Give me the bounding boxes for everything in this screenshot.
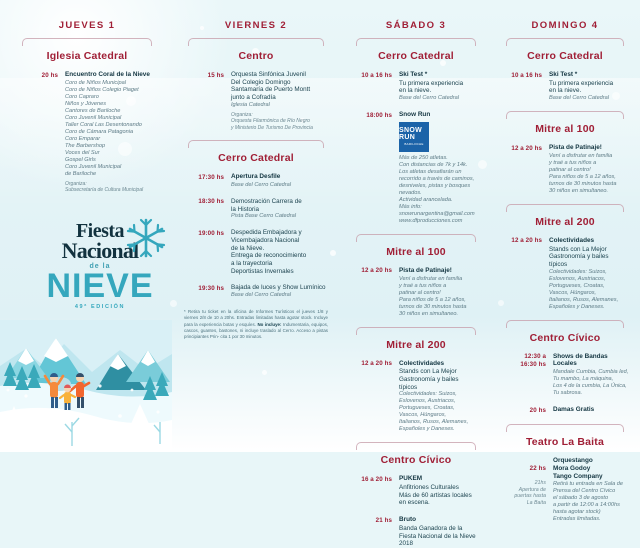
item-description: Bajada de luces y Show Lumínico <box>231 284 332 292</box>
item-title: Colectividades <box>399 360 484 368</box>
item-time: 17:30 hs <box>180 173 231 189</box>
item-time: 19:30 hs <box>180 284 231 299</box>
item-time: 21 hs <box>348 516 399 548</box>
item-description: Stands con La Mejor Gastronomía y bailes… <box>399 368 484 391</box>
day-title-sabado: SÁBADO 3 <box>348 20 484 31</box>
venue-cerro-catedral: Cerro Catedral <box>348 50 484 62</box>
day-column-viernes: VIERNES 2 Centro 15 hs Orquesta Sinfónic… <box>170 0 340 452</box>
venue-centro-civico: Centro Cívico <box>348 454 484 466</box>
item-time: 22 hs 21hs Apertura de puertas hasta La … <box>498 457 553 523</box>
venue-cerro-catedral: Cerro Catedral <box>498 50 632 62</box>
item-detail: Colectividades: Suizos, Eslovenos, Austr… <box>549 269 632 311</box>
item-description: Despedida Embajadora y Vicembajadora Nac… <box>231 229 332 275</box>
item-time: 15 hs <box>180 71 231 131</box>
item-title: Shows de Bandas Locales <box>553 353 632 369</box>
item-detail: Más de 250 atletas. Con distancias de 7k… <box>399 155 484 225</box>
footnote-line: cita 1 por 30 minutos. <box>220 334 262 339</box>
item-detail: Vení a disfrutar en familia y traé a tus… <box>549 153 632 195</box>
program-item: 12 a 20 hs Colectividades Stands con La … <box>498 237 632 311</box>
item-organizer: Orquesta Filarmónica de Río Negro y Mini… <box>231 118 332 131</box>
day-column-sabado: SÁBADO 3 Cerro Catedral 10 a 16 hs Ski T… <box>340 0 490 452</box>
snowflake-icon <box>124 216 168 260</box>
footnote-line: * Retira tu ticket en la oficina de Info… <box>184 309 323 314</box>
item-title: PUKEM <box>399 475 484 483</box>
snow-run-logo: SNOW RUN BARILOCHE <box>399 122 429 152</box>
program-item: 18:30 hs Demostración Carrera de la Hist… <box>180 198 332 220</box>
program-item: 20 hs Encuentro Coral de la Nieve Coro d… <box>14 71 160 194</box>
item-detail: Colectividades: Suizos, Eslovenos, Austr… <box>399 391 484 433</box>
item-title: Ski Test * <box>399 71 484 79</box>
item-time: 12 a 20 hs <box>348 267 399 318</box>
item-location: Base del Cerro Catedral <box>549 95 632 102</box>
venue-teatro-la-baita: Teatro La Baita <box>498 436 632 448</box>
section-bracket <box>188 140 324 148</box>
item-title: Orquestango Mora Godoy Tango Company <box>553 457 632 480</box>
day-title-domingo: DOMINGO 4 <box>498 20 632 31</box>
item-location: Base del Cerro Catedral <box>399 95 484 102</box>
section-bracket <box>506 111 624 119</box>
item-detail: Mandale Cumbia, Cumbia led, Tu mambo, La… <box>553 369 632 397</box>
poster-canvas: JUEVES 1 Iglesia Catedral 20 hs Encuentr… <box>0 0 640 452</box>
item-detail: Coro de Niños Municipal Coro de Niños Co… <box>65 80 160 178</box>
program-item: 15 hs Orquesta Sinfónica Juvenil Del Col… <box>180 71 332 131</box>
item-time: 12 a 20 hs <box>498 237 549 311</box>
item-title: Pista de Patinaje! <box>399 267 484 275</box>
item-time-note: 21hs Apertura de puertas hasta La Baita <box>498 480 546 506</box>
item-time: 20 hs <box>14 71 65 194</box>
venue-iglesia-catedral: Iglesia Catedral <box>14 50 160 62</box>
ski-test-footnote: * Retira tu ticket en la oficina de Info… <box>184 309 328 341</box>
item-time-main: 22 hs <box>498 465 546 473</box>
footnote-exclusion-label: No incluye: <box>257 322 281 327</box>
item-title: Pista de Patinaje! <box>549 144 632 152</box>
item-description: Stands con La Mejor Gastronomía y bailes… <box>549 246 632 269</box>
item-title: Bruto <box>399 516 484 524</box>
program-item: 20 hs Damas Gratis <box>498 406 632 415</box>
item-time: 18:00 hs <box>348 111 399 225</box>
winter-illustration <box>0 320 172 452</box>
program-item: 12 a 20 hs Colectividades Stands con La … <box>348 360 484 434</box>
section-bracket <box>506 204 624 212</box>
snow-run-logo-text: SNOW RUN <box>399 127 429 141</box>
item-time: 19:00 hs <box>180 229 231 275</box>
item-title: Apertura Desfile <box>231 173 332 181</box>
venue-cerro-catedral: Cerro Catedral <box>180 152 332 164</box>
section-bracket <box>506 424 624 432</box>
day-column-jueves: JUEVES 1 Iglesia Catedral 20 hs Encuentr… <box>0 0 170 452</box>
venue-mitre-100: Mitre al 100 <box>498 123 632 135</box>
item-time: 18:30 hs <box>180 198 231 220</box>
venue-mitre-100: Mitre al 100 <box>348 246 484 258</box>
venue-mitre-200: Mitre al 200 <box>498 216 632 228</box>
program-item: 16 a 20 hs PUKEM Anfitriones Culturales … <box>348 475 484 507</box>
program-item: 12 a 20 hs Pista de Patinaje! Vení a dis… <box>348 267 484 318</box>
program-item: 12 a 20 hs Pista de Patinaje! Vení a dis… <box>498 144 632 195</box>
title-bracket <box>506 38 624 46</box>
item-location: Base del Cerro Catedral <box>231 182 332 189</box>
program-columns: JUEVES 1 Iglesia Catedral 20 hs Encuentr… <box>0 0 640 452</box>
program-item: 22 hs 21hs Apertura de puertas hasta La … <box>498 457 632 523</box>
day-title-jueves: JUEVES 1 <box>14 20 160 31</box>
item-title: Snow Run <box>399 111 484 119</box>
section-bracket <box>356 234 476 242</box>
program-item: 19:00 hs Despedida Embajadora y Vicembaj… <box>180 229 332 275</box>
section-bracket <box>356 327 476 335</box>
item-title: Encuentro Coral de la Nieve <box>65 71 160 79</box>
item-time: 10 a 16 hs <box>498 71 549 102</box>
item-title: Colectividades <box>549 237 632 245</box>
program-item: 21 hs Bruto Banda Ganadora de la Fiesta … <box>348 516 484 548</box>
program-item: 19:30 hs Bajada de luces y Show Lumínico… <box>180 284 332 299</box>
section-bracket <box>356 442 476 450</box>
program-item: 12:30 a 16:30 hs Shows de Bandas Locales… <box>498 353 632 398</box>
item-organizer: Subsecretaría de Cultura Municipal <box>65 187 160 194</box>
venue-centro: Centro <box>180 50 332 62</box>
festival-logo: Fiesta Nacional de la NIEVE 49ª EDICIÓN <box>30 222 170 310</box>
item-time: 12 a 20 hs <box>348 360 399 434</box>
item-description: Orquesta Sinfónica Juvenil Del Colegio D… <box>231 71 332 102</box>
title-bracket <box>188 38 324 46</box>
title-bracket <box>22 38 152 46</box>
day-title-viernes: VIERNES 2 <box>180 20 332 31</box>
program-item: 17:30 hs Apertura Desfile Base del Cerro… <box>180 173 332 189</box>
venue-centro-civico: Centro Cívico <box>498 332 632 344</box>
item-detail: Retirá tu entrada en Sala de Prensa del … <box>553 481 632 523</box>
program-item: 18:00 hs Snow Run SNOW RUN BARILOCHE Más… <box>348 111 484 225</box>
item-time: 20 hs <box>498 406 553 415</box>
logo-edition: 49ª EDICIÓN <box>30 304 170 310</box>
item-title: Damas Gratis <box>553 406 632 414</box>
day-column-domingo: DOMINGO 4 Cerro Catedral 10 a 16 hs Ski … <box>490 0 640 452</box>
venue-mitre-200: Mitre al 200 <box>348 339 484 351</box>
item-location: Pista Base Cerro Catedral <box>231 213 332 220</box>
snow-run-logo-sub: BARILOCHE <box>404 143 423 146</box>
program-item: 10 a 16 hs Ski Test * Tu primera experie… <box>498 71 632 102</box>
item-description: Tu primera experiencia en la nieve. <box>399 80 484 95</box>
program-item: 10 a 16 hs Ski Test * Tu primera experie… <box>348 71 484 102</box>
item-description: Anfitriones Culturales Más de 60 artista… <box>399 484 484 507</box>
item-title: Ski Test * <box>549 71 632 79</box>
item-time: 16 a 20 hs <box>348 475 399 507</box>
item-detail: Vení a disfrutar en familia y traé a tus… <box>399 276 484 318</box>
item-time: 12:30 a 16:30 hs <box>498 353 553 398</box>
title-bracket <box>356 38 476 46</box>
item-time: 10 a 16 hs <box>348 71 399 102</box>
item-description: Demostración Carrera de la Historia <box>231 198 332 213</box>
logo-line-nieve: NIEVE <box>30 271 170 302</box>
item-time: 12 a 20 hs <box>498 144 549 195</box>
item-description: Banda Ganadora de la Fiesta Nacional de … <box>399 525 484 548</box>
item-description: Tu primera experiencia en la nieve. <box>549 80 632 95</box>
item-location: Iglesia Catedral <box>231 102 332 109</box>
item-location: Base del Cerro Catedral <box>231 292 332 299</box>
section-bracket <box>506 320 624 328</box>
